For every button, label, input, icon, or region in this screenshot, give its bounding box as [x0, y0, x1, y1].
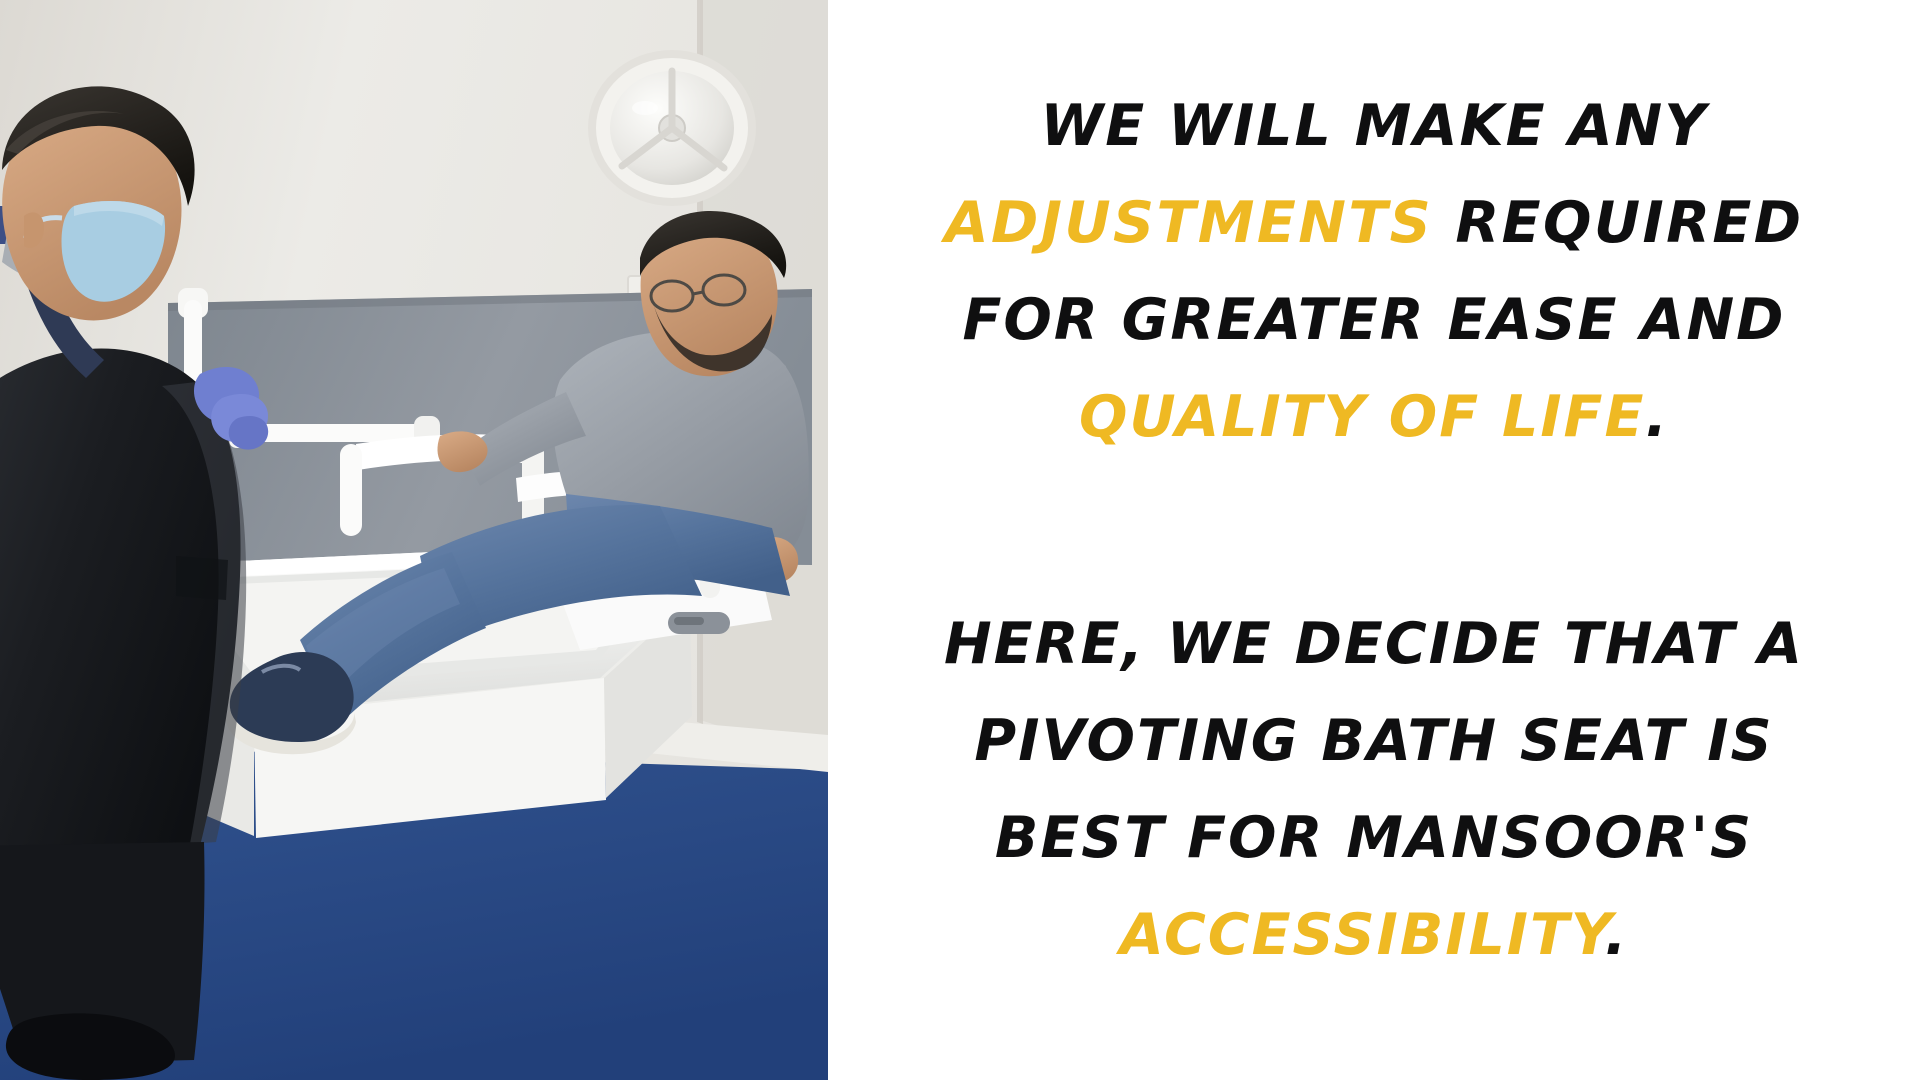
caption-line-8: ACCESSIBILITY. [869, 887, 1879, 984]
caption-paragraph-2: HERE, WE DECIDE THAT A PIVOTING BATH SEA… [869, 596, 1879, 984]
assessment-photo [0, 0, 828, 1080]
caption-paragraph-1: WE WILL MAKE ANY ADJUSTMENTS REQUIRED FO… [869, 78, 1879, 466]
caption-highlight-adjustments: ADJUSTMENTS [945, 190, 1434, 256]
caption-highlight-accessibility: ACCESSIBILITY [1120, 902, 1605, 968]
caption-line-3: FOR GREATER EASE AND [869, 272, 1879, 369]
ceiling-light-fixture [588, 50, 756, 206]
caption-line-6: PIVOTING BATH SEAT IS [869, 693, 1879, 790]
photo-illustration [0, 0, 828, 1080]
caption-line-4: QUALITY OF LIFE. [869, 369, 1879, 466]
caption-line-2: ADJUSTMENTS REQUIRED [869, 175, 1879, 272]
caption-text: BEST FOR MANSOOR'S [995, 805, 1753, 871]
caption-panel: WE WILL MAKE ANY ADJUSTMENTS REQUIRED FO… [828, 0, 1920, 1080]
caption-text: HERE, WE DECIDE THAT A [944, 611, 1804, 677]
caption-text: REQUIRED [1433, 190, 1803, 256]
caption-text: WE WILL MAKE ANY [1040, 93, 1707, 159]
caption-text: PIVOTING BATH SEAT IS [974, 708, 1773, 774]
caption-line-5: HERE, WE DECIDE THAT A [869, 596, 1879, 693]
slide-root: WE WILL MAKE ANY ADJUSTMENTS REQUIRED FO… [0, 0, 1920, 1080]
caption-line-1: WE WILL MAKE ANY [869, 78, 1879, 175]
caption-text: FOR GREATER EASE AND [963, 287, 1786, 353]
caption-period: . [1605, 902, 1629, 968]
caption-line-7: BEST FOR MANSOOR'S [869, 790, 1879, 887]
caption-highlight-quality-of-life: QUALITY OF LIFE [1079, 384, 1645, 450]
caption-period: . [1645, 384, 1669, 450]
